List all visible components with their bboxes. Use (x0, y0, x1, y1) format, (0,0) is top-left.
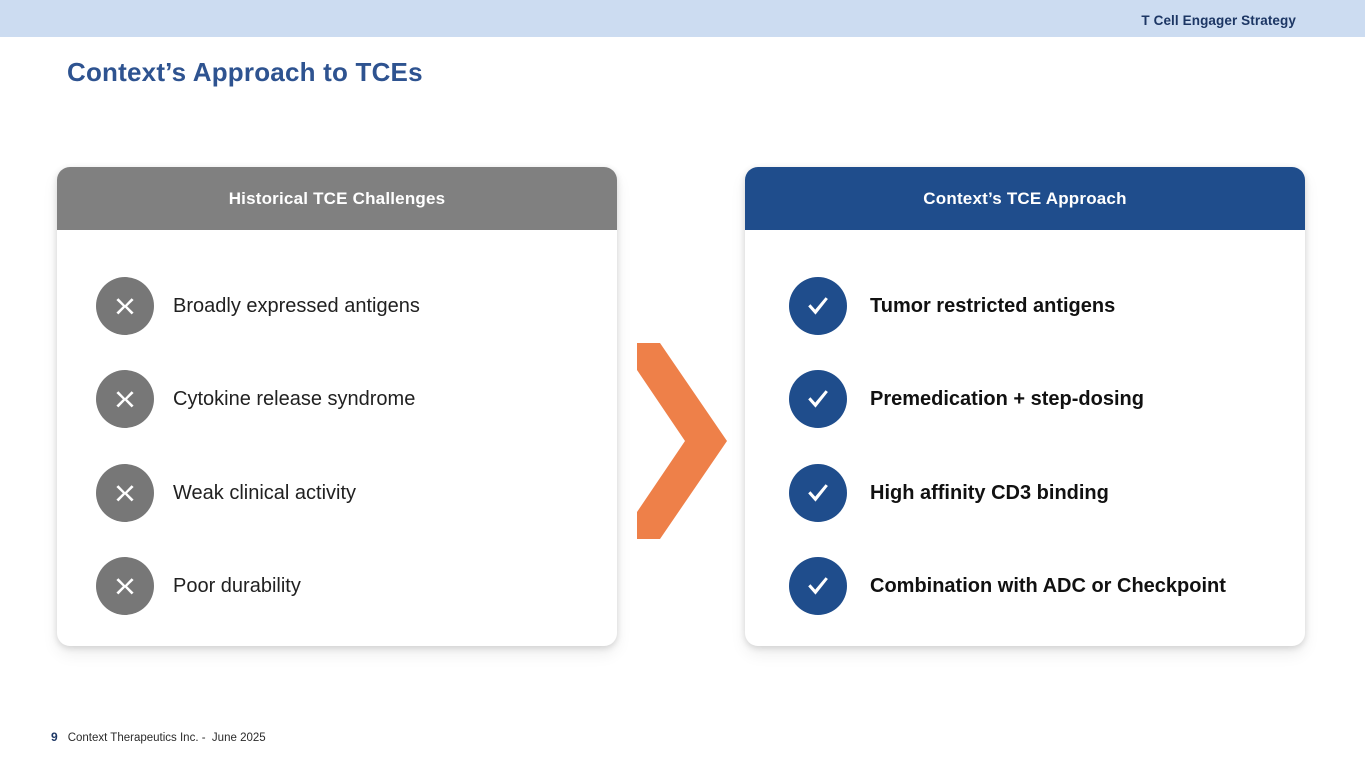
context-approach-card-body: Tumor restricted antigens Premedication … (745, 230, 1305, 646)
historical-challenges-card-header: Historical TCE Challenges (57, 167, 617, 230)
banner-title: T Cell Engager Strategy (1141, 13, 1296, 28)
x-icon (96, 464, 154, 522)
historical-challenges-card-body: Broadly expressed antigens Cytokine rele… (57, 230, 617, 646)
list-item-label: High affinity CD3 binding (870, 482, 1109, 505)
list-item: Broadly expressed antigens (57, 277, 420, 335)
check-icon (789, 464, 847, 522)
list-item-label: Combination with ADC or Checkpoint (870, 575, 1226, 598)
top-banner: T Cell Engager Strategy (0, 0, 1365, 37)
chevron-right-icon (634, 340, 730, 542)
x-icon (96, 370, 154, 428)
check-icon (789, 370, 847, 428)
list-item: Combination with ADC or Checkpoint (745, 557, 1226, 615)
footer: 9 Context Therapeutics Inc. - June 2025 (51, 730, 266, 744)
historical-challenges-card: Historical TCE Challenges Broadly expres… (57, 167, 617, 646)
list-item-label: Poor durability (173, 575, 301, 598)
list-item-label: Premedication + step-dosing (870, 388, 1144, 411)
list-item: Tumor restricted antigens (745, 277, 1115, 335)
page-title: Context’s Approach to TCEs (67, 57, 423, 88)
list-item: High affinity CD3 binding (745, 464, 1109, 522)
list-item: Premedication + step-dosing (745, 370, 1144, 428)
check-icon (789, 277, 847, 335)
list-item-label: Broadly expressed antigens (173, 295, 420, 318)
list-item: Weak clinical activity (57, 464, 356, 522)
list-item-label: Tumor restricted antigens (870, 295, 1115, 318)
list-item-label: Cytokine release syndrome (173, 388, 415, 411)
list-item-label: Weak clinical activity (173, 482, 356, 505)
check-icon (789, 557, 847, 615)
list-item: Poor durability (57, 557, 301, 615)
context-approach-card-header: Context’s TCE Approach (745, 167, 1305, 230)
list-item: Cytokine release syndrome (57, 370, 415, 428)
x-icon (96, 277, 154, 335)
context-approach-card: Context’s TCE Approach Tumor restricted … (745, 167, 1305, 646)
x-icon (96, 557, 154, 615)
footer-text: Context Therapeutics Inc. - June 2025 (68, 732, 266, 744)
page-number: 9 (51, 730, 58, 744)
